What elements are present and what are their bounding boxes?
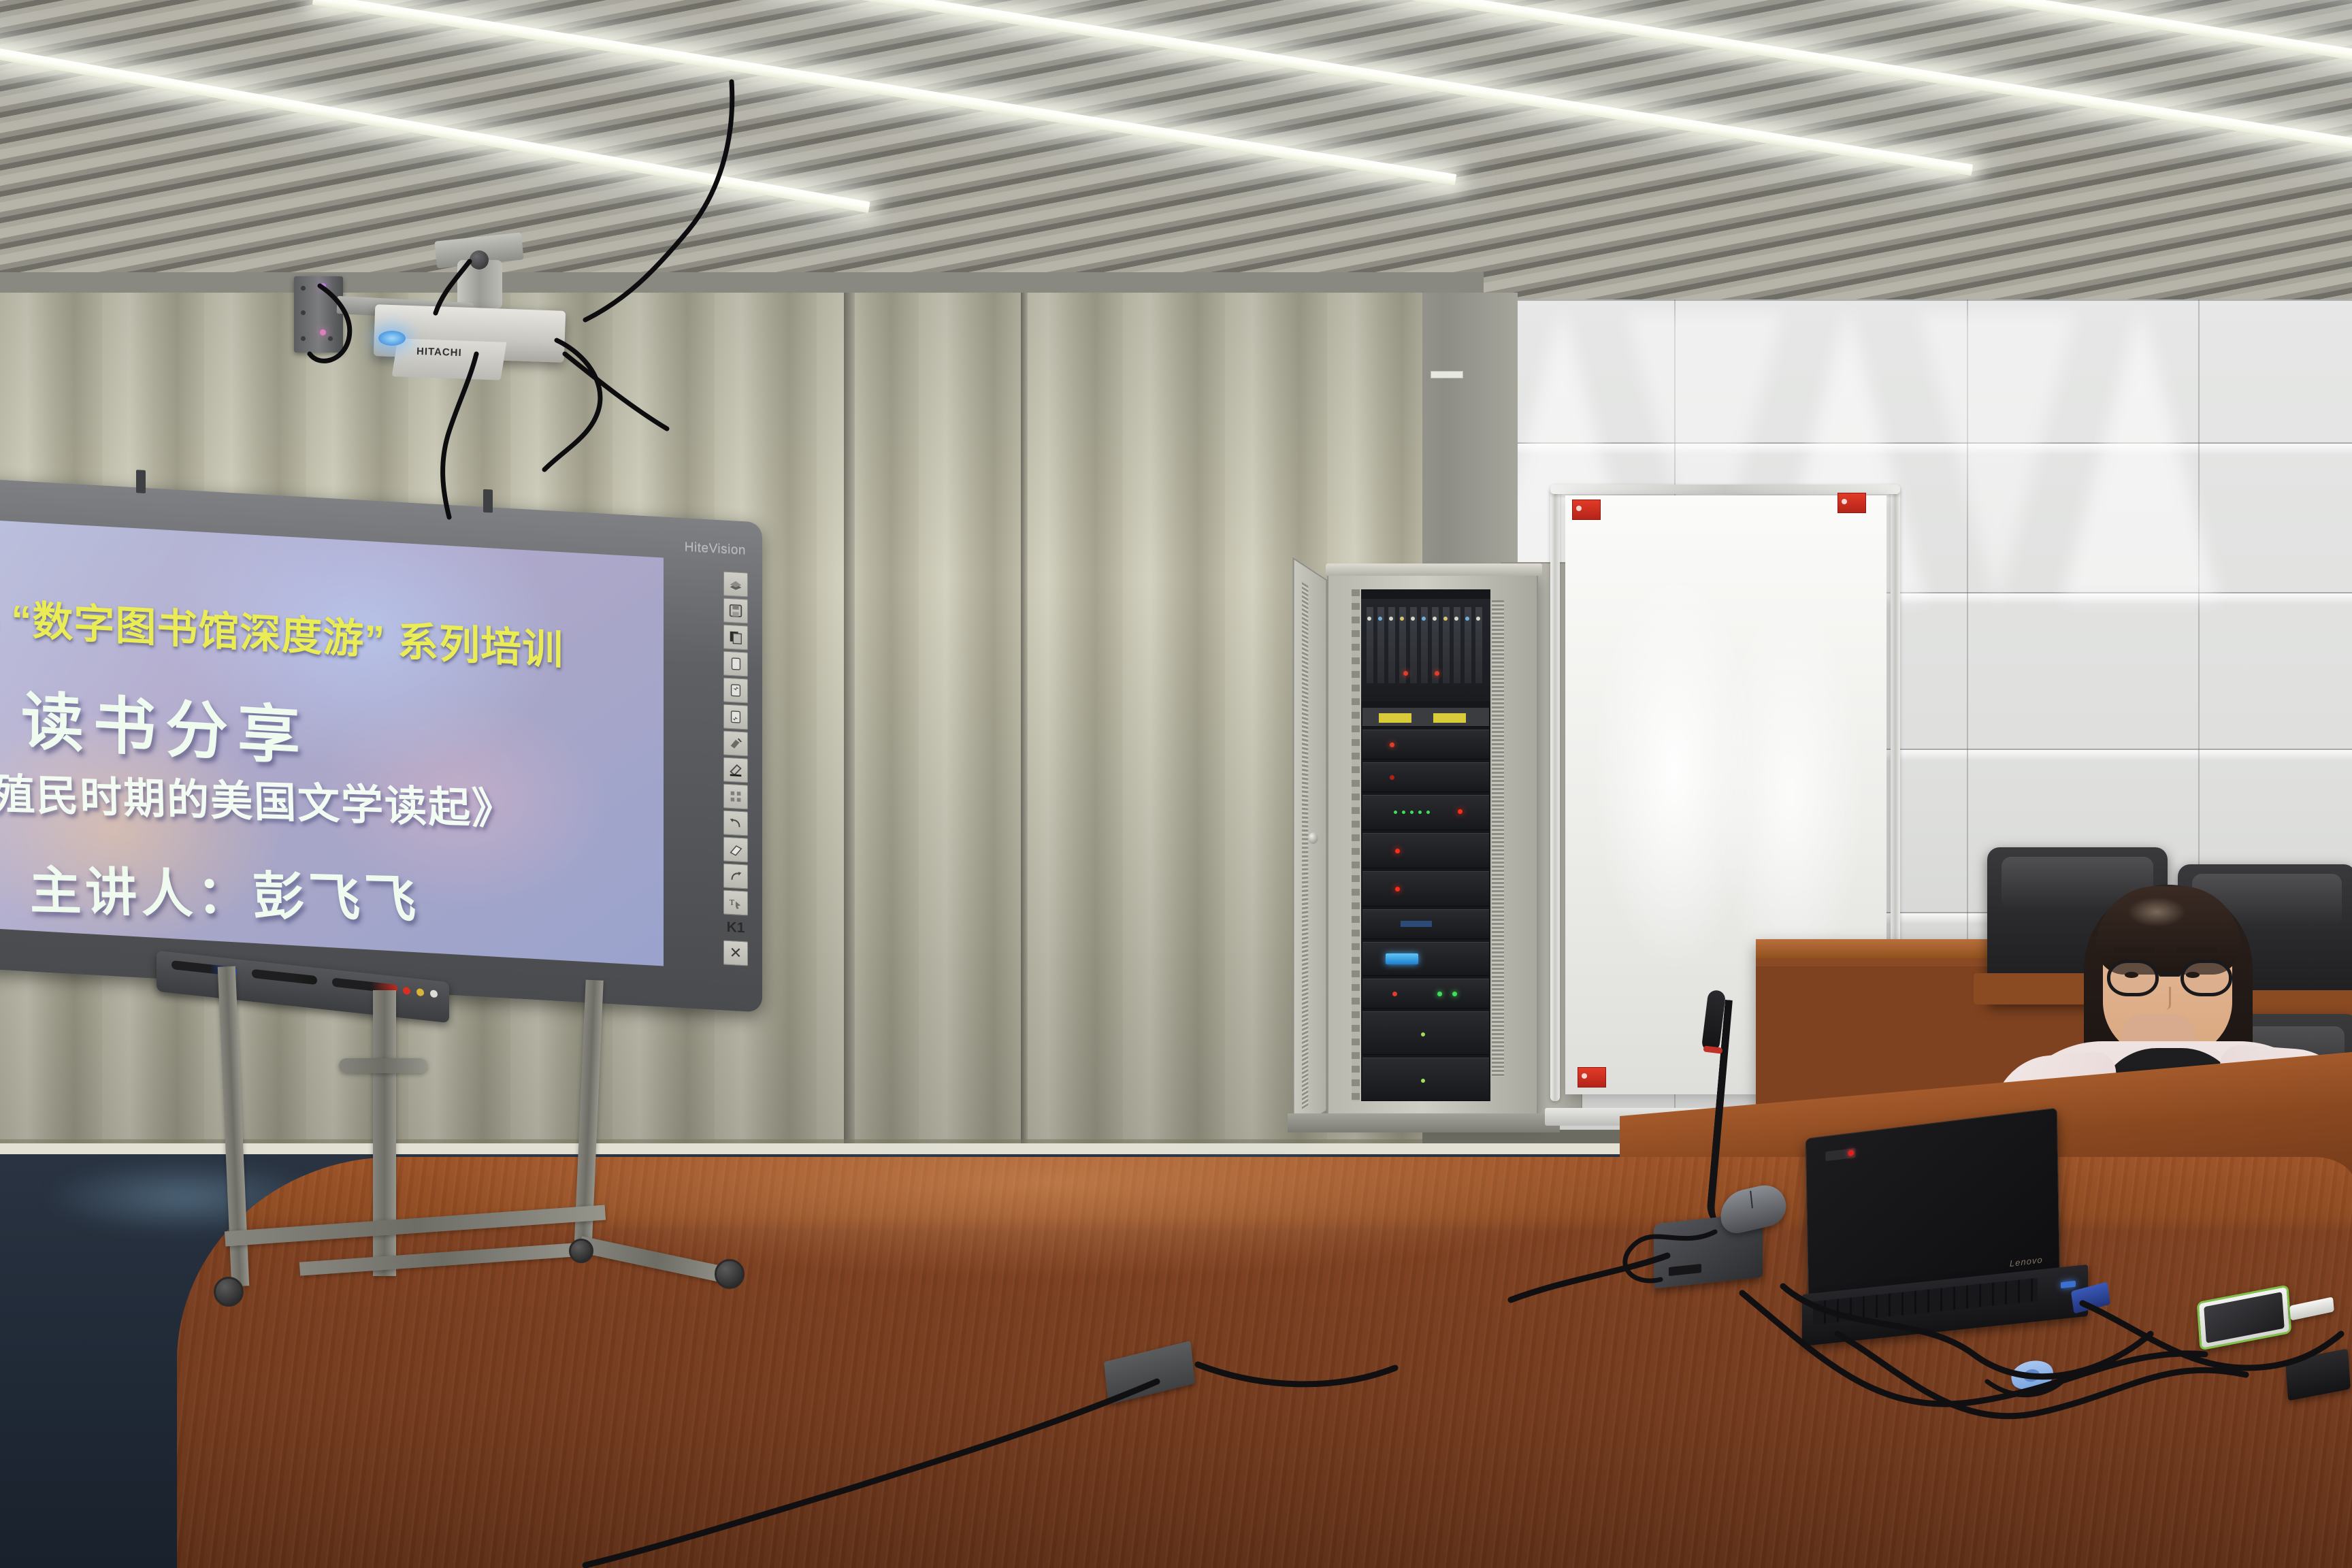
rack-unit-processor-1 bbox=[1362, 833, 1489, 868]
lenovo-logo: Lenovo bbox=[2010, 1254, 2043, 1269]
skirting-board bbox=[0, 1143, 1633, 1154]
av-equipment-rack[interactable] bbox=[1327, 572, 1538, 1116]
rack-unit-dvd-player bbox=[1362, 909, 1489, 939]
text-select-icon[interactable]: T bbox=[723, 889, 748, 915]
library-icon[interactable] bbox=[723, 571, 748, 597]
projector-swivel-joint bbox=[470, 250, 489, 269]
eraser-icon[interactable] bbox=[723, 836, 748, 862]
rack-interior bbox=[1361, 589, 1490, 1101]
stand-hook-bracket bbox=[339, 1058, 427, 1073]
tray-led-amber bbox=[416, 988, 424, 996]
rack-unit-power-amp-2 bbox=[1362, 1058, 1489, 1101]
rack-unit-amplifier-a bbox=[1362, 730, 1489, 759]
flipchart-clip-bottom-left[interactable] bbox=[1578, 1067, 1606, 1088]
rack-unit-power-amp-1 bbox=[1362, 1011, 1489, 1055]
interactive-whiteboard[interactable]: HiteVision 18年 “数字图书馆深度游” 系列培训 读书分享 —从殖民… bbox=[0, 476, 762, 1013]
whiteboard-wall-clip-right bbox=[483, 489, 493, 513]
slide-main-title: 读书分享 bbox=[21, 670, 310, 777]
flipchart-clip-top-right[interactable] bbox=[1837, 493, 1866, 513]
rack-unit-audio-mixer bbox=[1361, 599, 1490, 701]
tray-led-white bbox=[430, 990, 438, 998]
prev-page-icon[interactable] bbox=[723, 704, 748, 730]
close-icon[interactable]: ✕ bbox=[723, 940, 748, 966]
whiteboard-toolbar[interactable]: T K1 ✕ bbox=[721, 571, 750, 966]
whiteboard-wall-clip-left bbox=[136, 470, 146, 493]
projector-led-violet bbox=[320, 283, 326, 289]
rack-led-mixer-2 bbox=[1435, 671, 1439, 676]
rack-base bbox=[1288, 1113, 1560, 1132]
highlighter-icon[interactable] bbox=[723, 757, 748, 783]
projector-lens bbox=[378, 331, 406, 346]
column-label-plate bbox=[1431, 371, 1463, 378]
rack-lcd-display bbox=[1386, 953, 1418, 964]
wall-spotlight-cone-4 bbox=[1919, 313, 2076, 606]
rack-unit-processor-lcd bbox=[1362, 942, 1489, 976]
slide-speaker: 主讲人：彭飞飞 bbox=[28, 848, 421, 932]
projector-led-magenta bbox=[320, 329, 326, 336]
next-page-icon[interactable] bbox=[723, 677, 748, 703]
new-page-icon[interactable] bbox=[723, 651, 748, 676]
projector-mount-plate bbox=[294, 276, 343, 353]
projector-front-shade bbox=[392, 338, 507, 380]
rack-lock-icon[interactable] bbox=[1308, 832, 1318, 844]
stand-caster-center bbox=[569, 1239, 593, 1263]
laptop-status-led bbox=[2061, 1281, 2076, 1288]
tray-led-red bbox=[403, 987, 410, 995]
stand-caster-right bbox=[715, 1259, 745, 1289]
rack-unit-matrix-switcher bbox=[1362, 795, 1489, 830]
undo-icon[interactable] bbox=[723, 810, 748, 836]
training-room-photo: Lenovo HiteVision 1 bbox=[0, 0, 2352, 1568]
rack-unit-amplifier-b bbox=[1362, 762, 1489, 792]
rack-led-mixer-1 bbox=[1403, 671, 1408, 676]
rack-unit-processor-2 bbox=[1362, 871, 1489, 906]
svg-text:T: T bbox=[730, 898, 735, 907]
redo-icon[interactable] bbox=[723, 863, 748, 889]
copy-page-icon[interactable] bbox=[723, 624, 748, 650]
projector-brand-label: HITACHI bbox=[416, 346, 462, 359]
projected-slide[interactable]: 18年 “数字图书馆深度游” 系列培训 读书分享 —从殖民时期的美国文学读起》 … bbox=[0, 517, 664, 966]
pen-black[interactable] bbox=[252, 969, 317, 985]
stamp-icon[interactable] bbox=[723, 730, 748, 756]
flipchart-clip-top-left[interactable] bbox=[1572, 500, 1601, 520]
shapes-icon[interactable] bbox=[723, 783, 748, 809]
rack-door[interactable] bbox=[1293, 557, 1327, 1133]
rack-unit-power-sequencer bbox=[1362, 979, 1489, 1009]
save-icon[interactable] bbox=[723, 598, 748, 623]
rack-unit-patch-panel bbox=[1362, 708, 1489, 727]
wall-spotlight-cone-5 bbox=[2062, 306, 2219, 599]
whiteboard-channel-label: K1 bbox=[723, 916, 748, 939]
stand-caster-left bbox=[214, 1277, 244, 1307]
thinkpad-logo bbox=[1825, 1148, 1855, 1161]
